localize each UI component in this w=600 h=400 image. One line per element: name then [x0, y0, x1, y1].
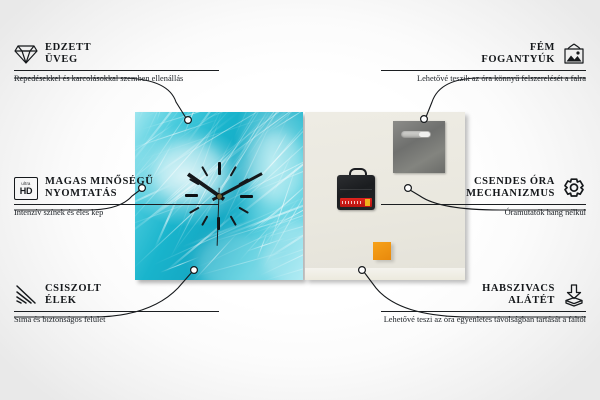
- callout-header: ultra HD MAGAS MINŐSÉGŰNYOMTATÁS: [14, 176, 219, 201]
- callout-description: Lehetővé teszi az óra egyenletes távolsá…: [381, 315, 586, 326]
- clock-movement-mechanism: [337, 168, 375, 210]
- callout-foam-spacer: HABSZIVACSALÁTÉT Lehetővé teszi az óra e…: [381, 283, 586, 325]
- foam-spacer-pad: [373, 242, 391, 260]
- callout-title: MAGAS MINŐSÉGŰNYOMTATÁS: [45, 176, 153, 201]
- foam-pad-arrow-icon: [562, 283, 586, 307]
- callout-title: FÉMFOGANTYÚK: [481, 42, 555, 67]
- callout-title: EDZETTÜVEG: [45, 42, 91, 67]
- diamond-icon: [14, 42, 38, 66]
- callout-description: Sima és biztonságos felület: [14, 315, 219, 326]
- back-panel-base-edge: [305, 268, 465, 280]
- callout-header: CSENDES ÓRAMECHANIZMUS: [381, 176, 586, 201]
- ultra-hd-icon: ultra HD: [14, 177, 38, 200]
- callout-title: CSENDES ÓRAMECHANIZMUS: [466, 176, 555, 201]
- movement-battery: [340, 198, 372, 207]
- movement-seam: [340, 189, 372, 190]
- callout-title: HABSZIVACSALÁTÉT: [482, 283, 555, 308]
- callout-header: CSISZOLTÉLEK: [14, 283, 219, 308]
- battery-label-stripes: [342, 201, 362, 204]
- callout-tempered-glass: EDZETTÜVEG Repedésekkel és karcolásokkal…: [14, 42, 219, 84]
- infographic-canvas: EDZETTÜVEG Repedésekkel és karcolásokkal…: [0, 0, 600, 400]
- callout-high-quality-print: ultra HD MAGAS MINŐSÉGŰNYOMTATÁS Intenzí…: [14, 176, 219, 218]
- gear-icon: [562, 176, 586, 200]
- callout-description: Intenzív színek és éles kép: [14, 208, 219, 219]
- callout-silent-movement: CSENDES ÓRAMECHANIZMUS Óramutatók hang n…: [381, 176, 586, 218]
- callout-header: EDZETTÜVEG: [14, 42, 219, 67]
- callout-polished-edges: CSISZOLTÉLEK Sima és biztonságos felület: [14, 283, 219, 325]
- movement-body: [337, 175, 375, 210]
- callout-divider: [14, 70, 219, 71]
- callout-description: Lehetővé teszik az óra könnyű felszerelé…: [381, 74, 586, 85]
- polished-edges-icon: [14, 283, 38, 307]
- callout-divider: [381, 204, 586, 205]
- callout-divider: [381, 70, 586, 71]
- picture-hanger-icon: [562, 42, 586, 66]
- callout-divider: [14, 204, 219, 205]
- ultra-hd-icon-large-text: HD: [20, 187, 32, 196]
- callout-header: FÉMFOGANTYÚK: [381, 42, 586, 67]
- callout-title: CSISZOLTÉLEK: [45, 283, 101, 308]
- callout-header: HABSZIVACSALÁTÉT: [381, 283, 586, 308]
- callout-divider: [14, 311, 219, 312]
- hanger-keyhole-slot: [401, 131, 431, 138]
- callout-metal-hangers: FÉMFOGANTYÚK Lehetővé teszik az óra könn…: [381, 42, 586, 84]
- callout-divider: [381, 311, 586, 312]
- callout-description: Repedésekkel és karcolásokkal szemben el…: [14, 74, 219, 85]
- metal-hanger-plate: [393, 121, 445, 173]
- callout-description: Óramutatók hang nélkül: [381, 208, 586, 219]
